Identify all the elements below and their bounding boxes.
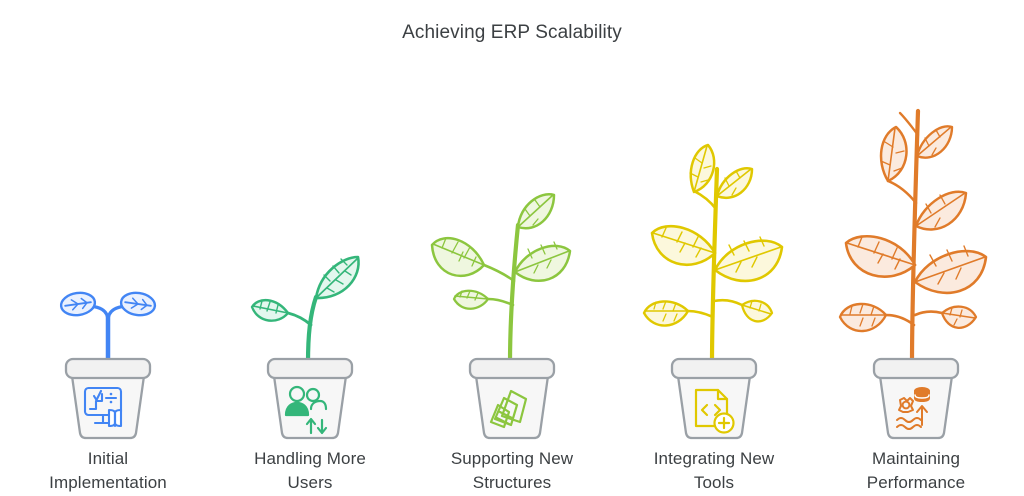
leaf-3-left xyxy=(432,238,484,276)
leaf-5-lower-right xyxy=(942,306,976,327)
page-title: Achieving ERP Scalability xyxy=(0,22,1024,44)
stage-label-3-line2: Structures xyxy=(414,471,610,496)
leaf-3-right xyxy=(515,242,570,281)
leaf-1-left xyxy=(60,290,97,317)
stage-label-3-line1: Supporting New xyxy=(414,447,610,472)
stage-label-4: Integrating New Tools xyxy=(616,447,812,496)
stage-label-4-line1: Integrating New xyxy=(616,447,812,472)
stem-2 xyxy=(288,297,316,363)
plant-illustration-1 xyxy=(10,85,206,440)
stage-label-2-line2: Users xyxy=(212,471,408,496)
plant-svg-5 xyxy=(818,85,1014,440)
stage-label-1-line1: Initial xyxy=(10,447,206,472)
leaf-4-top-right xyxy=(717,168,752,198)
stem-1 xyxy=(90,306,126,363)
stage-initial-implementation[interactable]: Initial Implementation xyxy=(10,60,206,496)
stage-handling-more-users[interactable]: Handling More Users xyxy=(212,60,408,496)
stage-supporting-new-structures[interactable]: Supporting New Structures xyxy=(414,60,610,496)
leaf-5-upper-left xyxy=(881,127,906,181)
plant-svg-1 xyxy=(10,85,206,440)
leaf-5-mid-left xyxy=(846,236,915,276)
stage-integrating-new-tools[interactable]: Integrating New Tools xyxy=(616,60,812,496)
growth-stages-row: Initial Implementation xyxy=(0,60,1024,496)
leaf-1-right xyxy=(120,290,157,317)
plant-illustration-2 xyxy=(212,85,408,440)
stage-label-1-line2: Implementation xyxy=(10,471,206,496)
leaf-3-top xyxy=(518,194,554,228)
pot-3 xyxy=(470,359,554,438)
stage-label-5-line2: Performance xyxy=(818,471,1014,496)
leaf-5-top xyxy=(917,126,952,157)
stage-label-5: Maintaining Performance xyxy=(818,447,1014,496)
stem-3 xyxy=(484,225,548,363)
plant-illustration-5 xyxy=(818,85,1014,440)
leaf-4-mid-left xyxy=(652,226,715,265)
plant-illustration-3 xyxy=(414,85,610,440)
stage-label-2-line1: Handling More xyxy=(212,447,408,472)
plant-svg-4 xyxy=(616,85,812,440)
leaf-5-lower-left xyxy=(840,304,886,331)
stage-label-1: Initial Implementation xyxy=(10,447,206,496)
leaf-5-upper-right xyxy=(916,191,966,229)
leaf-4-lower-left xyxy=(644,301,688,326)
stage-label-4-line2: Tools xyxy=(616,471,812,496)
leaf-2-left xyxy=(252,300,288,321)
plant-illustration-4 xyxy=(616,85,812,440)
plant-svg-2 xyxy=(212,85,408,440)
infographic-canvas: Achieving ERP Scalability xyxy=(0,0,1024,496)
leaf-4-upper-left xyxy=(690,145,714,192)
stage-label-2: Handling More Users xyxy=(212,447,408,496)
leaf-4-mid-right xyxy=(715,237,782,281)
stage-label-5-line1: Maintaining xyxy=(818,447,1014,472)
leaf-2-right xyxy=(316,257,359,298)
plant-svg-3 xyxy=(414,85,610,440)
stage-label-3: Supporting New Structures xyxy=(414,447,610,496)
leaf-4-lower-right xyxy=(742,301,772,322)
leaf-5-mid-right xyxy=(915,246,986,293)
stage-maintaining-performance[interactable]: Maintaining Performance xyxy=(818,60,1014,496)
leaf-3-lower-left xyxy=(454,290,488,308)
